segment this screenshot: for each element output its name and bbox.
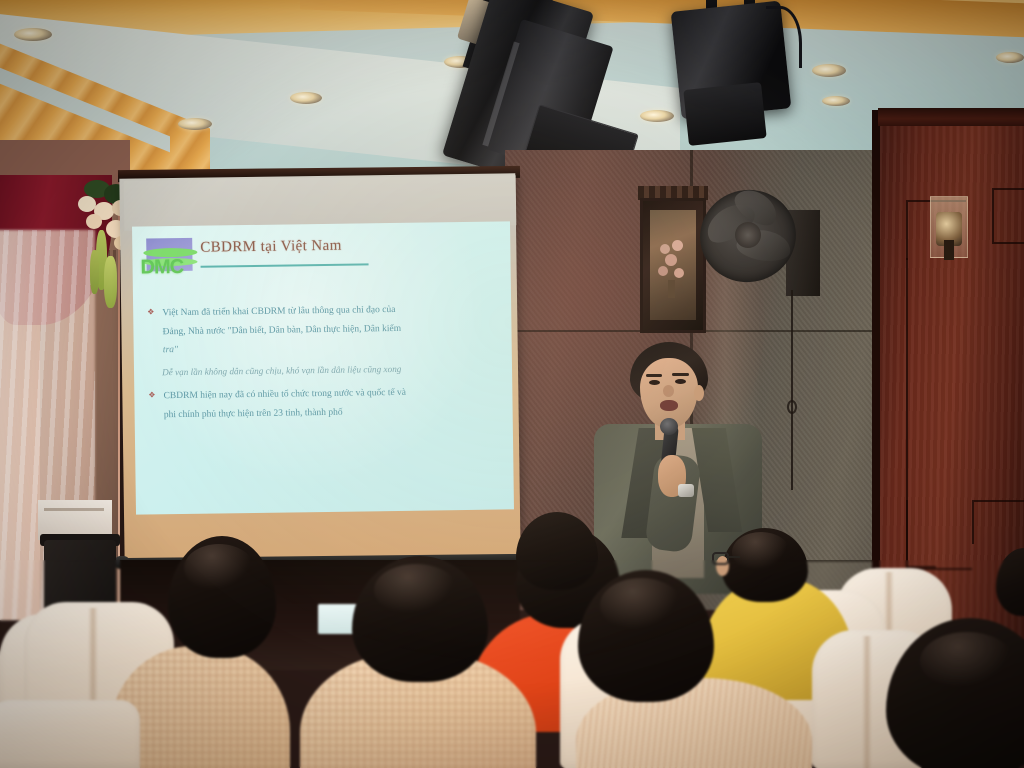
attendee-front-center-hair-highlight: [374, 564, 458, 616]
wood-inlay-pattern: [972, 500, 1024, 544]
wood-wall-cornice: [878, 108, 1024, 126]
glasses-arm: [726, 556, 740, 558]
bullet-2-line-2: phi chính phủ thực hiện trên 23 tỉnh, th…: [164, 402, 499, 425]
speaker-eyebrow-left: [646, 374, 662, 377]
speaker-mouth: [660, 400, 678, 411]
dmc-logo-text: DMC: [140, 256, 183, 280]
attendee-striped-hair-highlight: [600, 578, 682, 632]
downlight-icon: [14, 28, 52, 41]
slide-title: CBDRM tại Việt Nam: [200, 238, 342, 257]
slide-body: ❖ Việt Nam đã triển khai CBDRM từ lâu th…: [147, 300, 499, 427]
downlight-icon: [640, 110, 674, 122]
slide-sub-line: Dễ vạn lần không dân cũng chịu, khó vạn …: [162, 359, 498, 382]
bullet-marker-icon: ❖: [148, 388, 156, 425]
downlight-icon: [996, 52, 1024, 63]
presentation-slide: DMC CBDRM tại Việt Nam ❖ Việt Nam đã tri…: [132, 221, 514, 514]
wall-fan-cord-knot: [787, 400, 797, 414]
attendee-mid-left-hair-highlight: [184, 544, 254, 592]
conference-photo: DMC CBDRM tại Việt Nam ❖ Việt Nam đã tri…: [0, 0, 1024, 768]
downlight-icon: [822, 96, 850, 106]
downlight-icon: [290, 92, 322, 104]
speaker-nose: [663, 385, 674, 397]
chair-cover-foreground: [0, 700, 140, 768]
speaker-ear: [694, 385, 704, 401]
speaker-eyebrow-right: [672, 373, 689, 376]
wall-sconce-arm: [944, 240, 954, 260]
chair-fold: [862, 636, 872, 768]
attendee-yellow-hair-highlight: [732, 532, 790, 572]
downlight-icon: [178, 118, 212, 130]
wall-fan-pull-cord: [791, 290, 793, 490]
background-panel-detail: [44, 508, 104, 511]
speaker-eye-right: [675, 379, 686, 384]
microphone-head-icon: [660, 418, 678, 435]
wood-inlay-pattern: [906, 500, 972, 570]
bullet-2-text: CBDRM hiện nay đã có nhiều tổ chức trong…: [163, 383, 498, 425]
bullet-1-text: Việt Nam đã triển khai CBDRM từ lâu thôn…: [162, 300, 498, 360]
downlight-icon: [812, 64, 846, 77]
bullet-1-line-2-text: Đảng, Nhà nước "Dân biết, Dân bàn, Dân t…: [163, 323, 402, 336]
painting-flowers-icon: [654, 240, 692, 300]
wall-fan-hub: [735, 222, 761, 248]
slide-bullet-1: ❖ Việt Nam đã triển khai CBDRM từ lâu th…: [147, 300, 498, 360]
attendee-front-right-hair-highlight: [920, 632, 1014, 690]
glasses-icon: [712, 552, 729, 565]
speaker-eye-left: [649, 380, 660, 385]
speaker-wristwatch: [678, 484, 694, 497]
slide-bullet-2: ❖ CBDRM hiện nay đã có nhiều tổ chức tro…: [148, 383, 498, 425]
wood-inlay-pattern: [992, 188, 1024, 244]
spotlight-right-lens-housing: [683, 82, 766, 146]
bullet-marker-icon: ❖: [147, 304, 155, 360]
